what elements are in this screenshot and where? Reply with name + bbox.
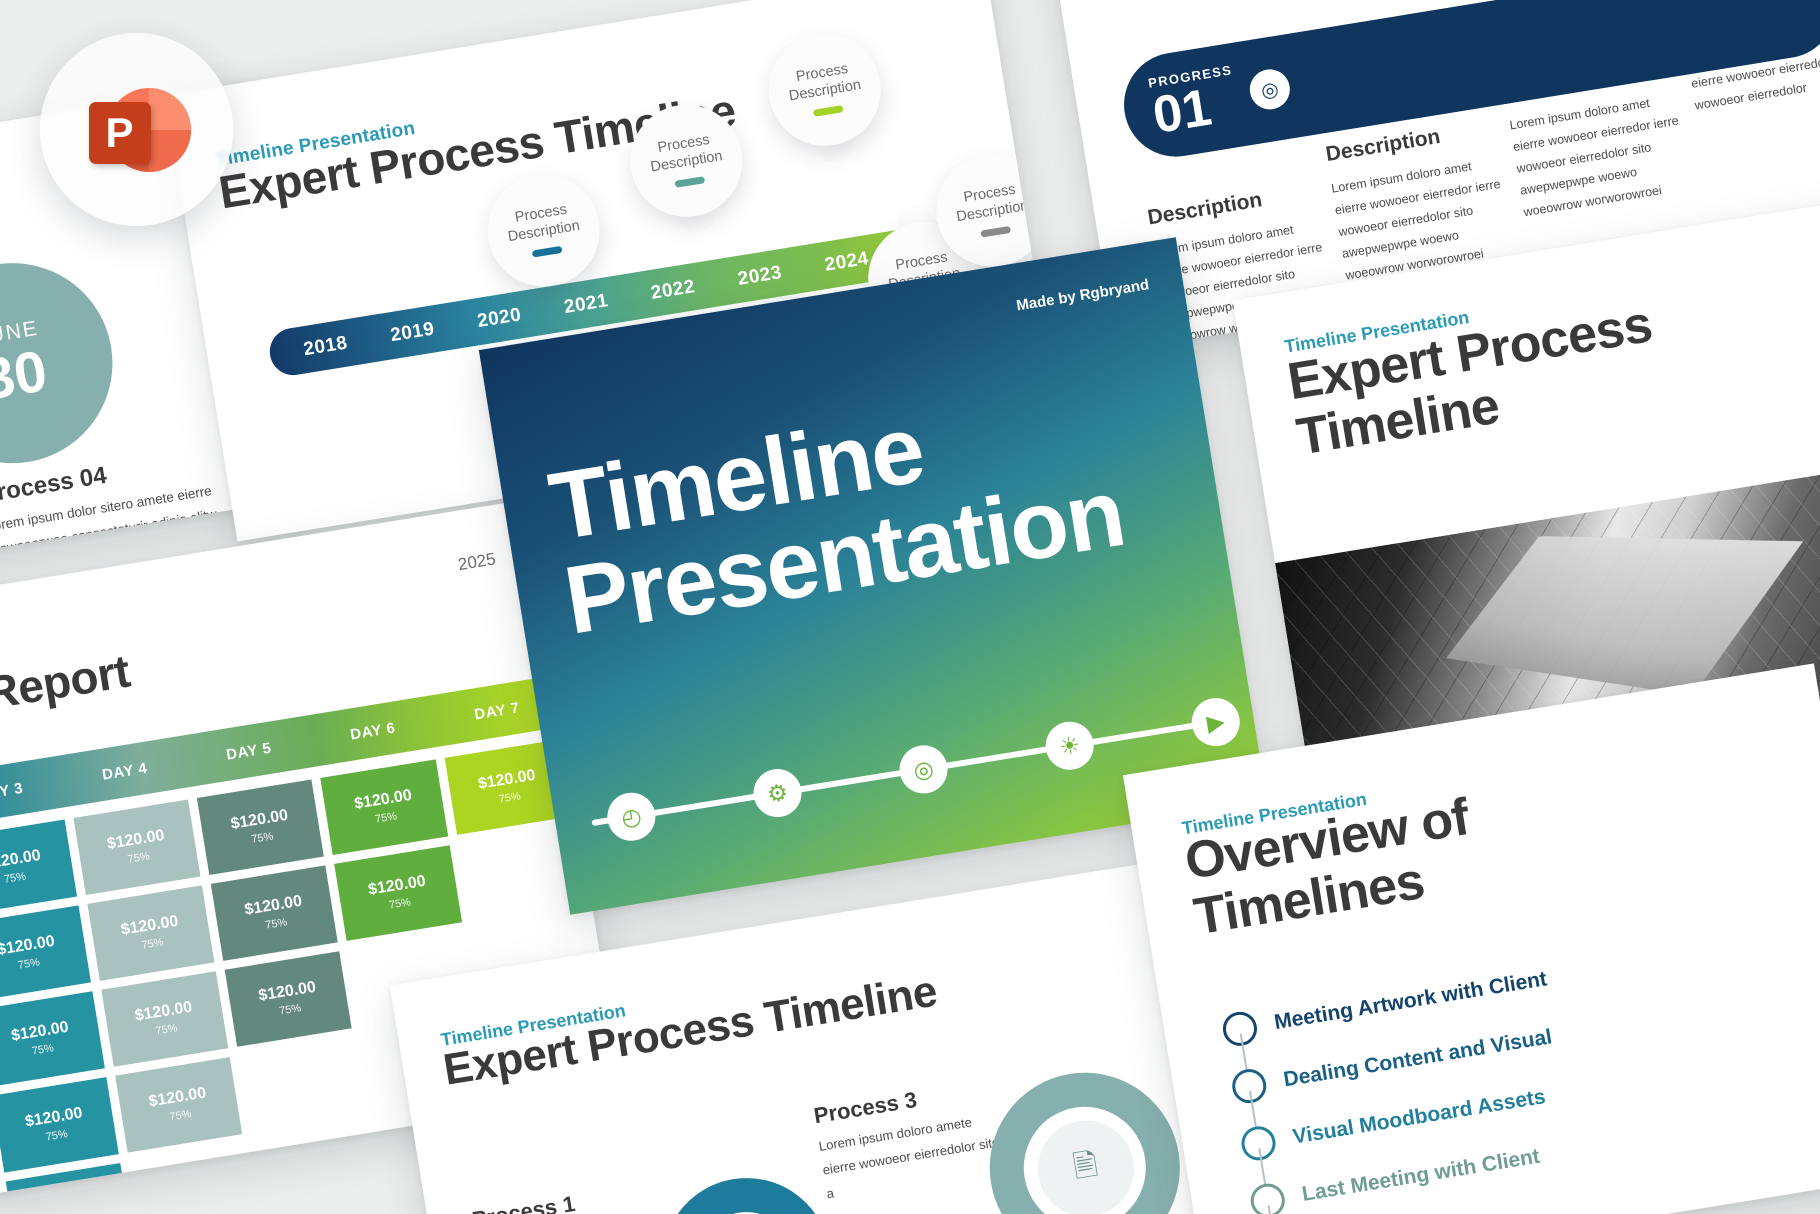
timeline-year: 2018 (302, 332, 349, 361)
report-cell[interactable]: $120.0075% (73, 799, 200, 895)
overview-bullet-ring (1220, 1009, 1259, 1048)
report-column-header: DAY 6 (307, 695, 439, 766)
report-cell-percent: 75% (155, 1022, 179, 1037)
report-cell[interactable]: $120.0075% (101, 971, 228, 1067)
report-cell[interactable]: $120.0075% (87, 885, 214, 981)
timeline-marker-label: Process Description (933, 177, 1049, 230)
overview-list: Meeting Artwork with ClientDealing Conte… (1219, 907, 1820, 1214)
timeline-marker-dash (532, 246, 563, 258)
report-cell-amount: $120.00 (24, 1104, 84, 1131)
report-cell[interactable]: $120.0075% (0, 819, 77, 915)
report-title: nal Timeline Report (0, 644, 133, 764)
main-title: Timeline Presentation (543, 371, 1130, 649)
timeline-marker-dash (980, 226, 1011, 238)
clock-icon[interactable]: ◴ (604, 789, 659, 844)
report-cell[interactable]: $120.0075% (197, 779, 324, 875)
report-cell-amount: $120.00 (367, 872, 427, 899)
date-day: 30 (0, 342, 51, 410)
report-cell-amount: $120.00 (120, 912, 180, 939)
timeline-year: 2021 (563, 290, 610, 319)
overview-bullet-ring (1239, 1124, 1278, 1163)
lightbulb-icon[interactable]: ☀ (1042, 718, 1097, 773)
timeline-marker[interactable]: Process Description (761, 25, 889, 153)
timeline-year: 2022 (649, 276, 696, 305)
timeline-year: 2019 (389, 318, 436, 347)
report-cell[interactable]: $120.0075% (321, 759, 448, 855)
slide-title: Expert Process Timeline (1284, 296, 1665, 466)
powerpoint-logo-badge[interactable]: P (40, 33, 233, 226)
report-column-header: DAY 5 (183, 715, 315, 786)
powerpoint-logo-icon: P (83, 82, 191, 178)
timeline-marker[interactable]: Process Description (479, 166, 607, 294)
report-cell-amount: $120.00 (477, 766, 537, 793)
report-cell-amount: $120.00 (134, 998, 194, 1025)
report-cell-percent: 75% (141, 936, 165, 951)
report-cell-percent: 75% (17, 956, 41, 971)
timeline-year: 2023 (736, 262, 783, 291)
timeline-marker-dash (813, 105, 844, 117)
report-column-header: DAY 4 (58, 736, 190, 807)
report-cell[interactable]: $120.0075% (0, 905, 91, 1001)
report-cell[interactable]: $120.0075% (0, 991, 105, 1087)
report-cell[interactable]: $120.0075% (335, 845, 462, 941)
description-body: Lorem ipsum doloro amet eierre wowoeor e… (1508, 89, 1691, 224)
process-ring-blue (650, 1166, 843, 1214)
report-cell-amount: $120.00 (0, 932, 56, 959)
report-cell-percent: 75% (169, 1108, 193, 1123)
process-1-heading: Process 1 (470, 1191, 577, 1214)
report-cell-percent: 75% (388, 896, 412, 911)
process-5-heading: Process 5 (965, 864, 1072, 888)
report-cell-percent: 75% (31, 1042, 55, 1057)
report-cell-amount: $120.00 (38, 1190, 98, 1214)
report-cell-amount: $120.00 (10, 1018, 70, 1045)
report-cell-empty (253, 1123, 380, 1214)
process-date-circle: JUNE 30 (0, 248, 127, 477)
report-cell[interactable]: $120.0075% (225, 951, 352, 1047)
report-cell-amount: $120.00 (243, 892, 303, 919)
report-cell-percent: 75% (45, 1128, 69, 1143)
report-cell-percent: 75% (278, 1002, 302, 1017)
timeline-year: 2020 (476, 304, 523, 333)
progress-step-number: 01 (1149, 77, 1241, 142)
report-cell-percent: 75% (264, 916, 288, 931)
document-icon: 🖹 (1031, 1114, 1141, 1214)
report-cell-empty (239, 1037, 366, 1133)
target-icon: ◎ (1247, 66, 1293, 112)
report-cell-amount: $120.00 (353, 786, 413, 813)
timeline-year: 2024 (823, 248, 870, 277)
report-cell-amount: $120.00 (147, 1084, 207, 1111)
report-cell-amount: $120.00 (257, 978, 317, 1005)
report-cell[interactable]: $120.0075% (5, 1163, 132, 1214)
timeline-marker-label: Process Description (765, 56, 881, 109)
made-by-credit: Made by Rgbryand (1015, 276, 1150, 314)
report-cell-amount: $120.00 (106, 826, 166, 853)
powerpoint-logo-letter: P (89, 102, 151, 164)
megaphone-icon[interactable]: ▶ (1188, 695, 1243, 750)
overview-bullet-ring (1230, 1067, 1269, 1106)
report-cell-percent: 75% (374, 810, 398, 825)
report-cell-empty (129, 1143, 256, 1214)
gear-icon[interactable]: ⚙ (750, 766, 805, 821)
report-cell-percent: 75% (3, 870, 27, 885)
report-cell[interactable]: $120.0075% (115, 1057, 242, 1153)
report-cell-percent: 75% (250, 830, 274, 845)
target-icon[interactable]: ◎ (896, 742, 951, 797)
report-cell-percent: 75% (127, 850, 151, 865)
timeline-marker-label: Process Description (484, 197, 600, 250)
report-cell[interactable]: $120.0075% (0, 1077, 119, 1173)
report-cell[interactable]: $120.0075% (211, 865, 338, 961)
report-cell-amount: $120.00 (229, 806, 289, 833)
timeline-marker-label: Process Description (627, 127, 743, 180)
report-cell-amount: $120.00 (0, 846, 42, 873)
slide-collage-canvas: JUNE 30 03 ⟶ Process 04 Lorem ipsum dolo… (0, 0, 1820, 1214)
report-year: 2025 (457, 549, 498, 575)
process-ring-sage: 🖹 (976, 1059, 1194, 1214)
report-column-header: DAY 3 (0, 756, 67, 827)
timeline-marker-dash (674, 176, 705, 188)
report-cell-percent: 75% (498, 790, 522, 805)
